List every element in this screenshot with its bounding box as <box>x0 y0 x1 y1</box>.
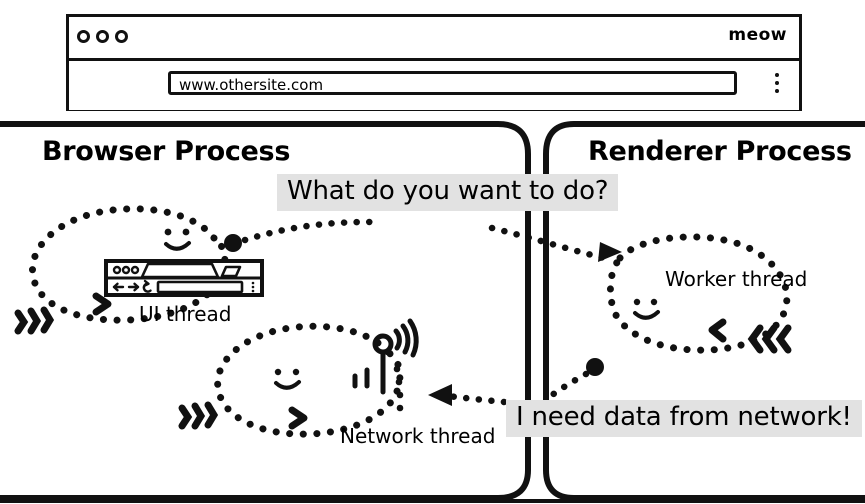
traffic-lights <box>77 30 128 43</box>
omnibox[interactable]: www.othersite.com <box>168 71 737 95</box>
browser-process-title: Browser Process <box>42 136 290 167</box>
message-want-to-do: What do you want to do? <box>277 174 618 211</box>
message-origin-dot <box>224 234 242 252</box>
message-arrow-want-to-do <box>224 222 622 262</box>
close-circle-icon[interactable] <box>77 30 90 43</box>
worker-thread-blob <box>610 237 788 350</box>
toolbar: www.othersite.com <box>69 61 799 110</box>
network-thread-label: Network thread <box>340 424 495 448</box>
diagram-canvas: .dotline{fill:none;stroke:#111;stroke-wi… <box>0 0 865 504</box>
minimize-circle-icon[interactable] <box>96 30 109 43</box>
tab-strip: meow <box>69 17 799 61</box>
mini-browser-window-icon <box>104 259 264 297</box>
omnibox-value: www.othersite.com <box>179 76 323 94</box>
renderer-process-title: Renderer Process <box>588 136 852 167</box>
network-thread-blob <box>182 321 416 434</box>
message-arrow-need-data <box>428 358 604 406</box>
arrowhead-left <box>428 384 452 406</box>
maximize-circle-icon[interactable] <box>115 30 128 43</box>
window-badge: meow <box>728 25 787 45</box>
browser-window: meow www.othersite.com <box>66 14 802 110</box>
ui-thread-label: UI thread <box>139 302 231 326</box>
motion-ticks <box>18 310 50 331</box>
three-dot-menu-icon[interactable] <box>775 73 779 93</box>
worker-thread-label: Worker thread <box>665 267 807 291</box>
message-need-data: I need data from network! <box>506 400 862 437</box>
